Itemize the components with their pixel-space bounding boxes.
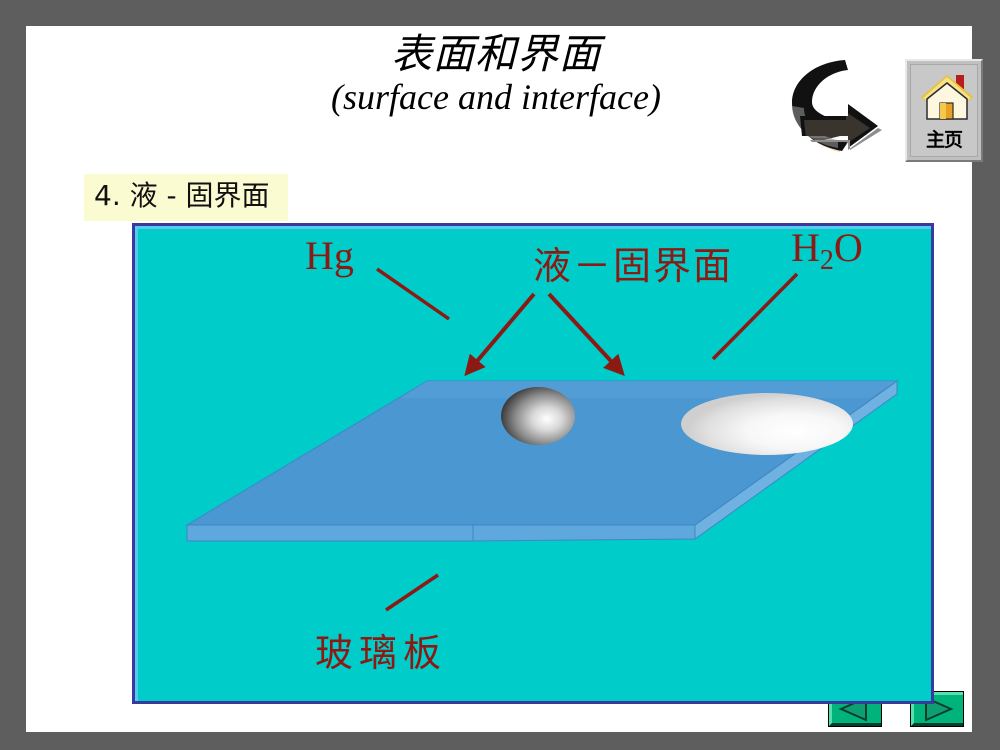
interface-arrow-right xyxy=(549,294,622,373)
mercury-label: Hg xyxy=(305,233,354,278)
slide-root: 表面和界面 (surface and interface) xyxy=(0,0,1000,750)
mercury-droplet xyxy=(501,387,575,445)
slide-page: 表面和界面 (surface and interface) xyxy=(26,26,972,732)
interface-label: 液－固界面 xyxy=(533,244,733,288)
house-icon xyxy=(911,67,983,129)
diagram-canvas: 液－固界面 Hg H2O 玻璃板 xyxy=(132,223,934,704)
swoosh-arrow-icon[interactable] xyxy=(790,56,890,161)
water-droplet xyxy=(681,393,853,455)
slide-title-block: 表面和界面 (surface and interface) xyxy=(206,30,786,120)
mercury-leader xyxy=(377,269,449,319)
plate-leader xyxy=(386,575,438,610)
page-title-chinese: 表面和界面 xyxy=(206,30,786,78)
home-button[interactable]: 主页 xyxy=(905,59,983,162)
home-button-label: 主页 xyxy=(911,125,977,152)
page-title-english: (surface and interface) xyxy=(206,76,786,119)
liquid-solid-interface-illustration: 液－固界面 Hg H2O 玻璃板 xyxy=(135,226,931,701)
home-button-inner: 主页 xyxy=(910,64,978,157)
section-heading: 4. 液 - 固界面 xyxy=(84,174,288,221)
plate-label: 玻璃板 xyxy=(315,631,447,675)
water-label: H2O xyxy=(791,226,863,276)
interface-arrow-left xyxy=(467,294,534,373)
